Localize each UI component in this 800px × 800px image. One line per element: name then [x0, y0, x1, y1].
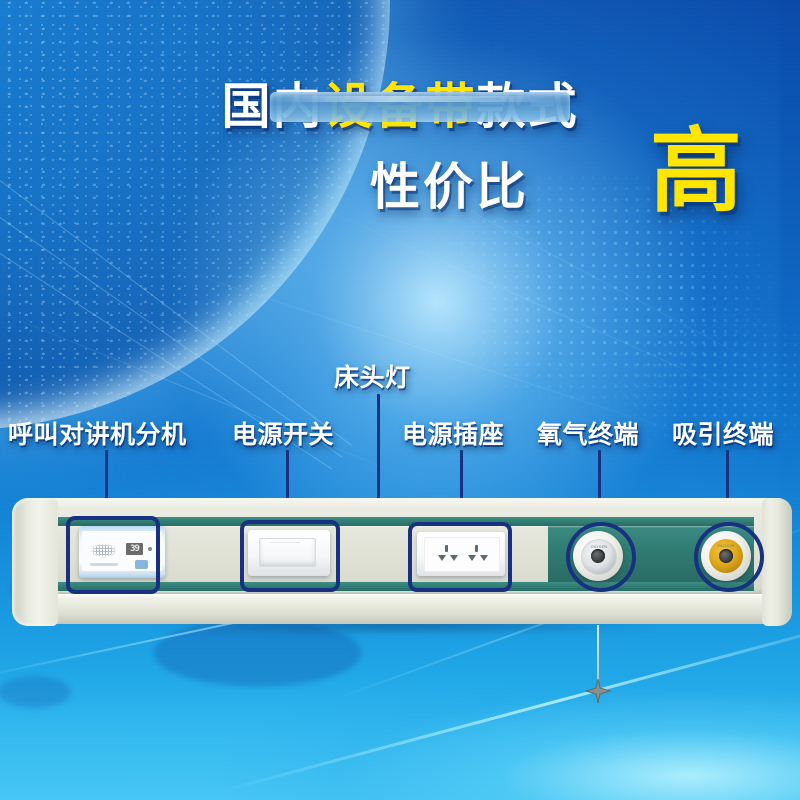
callout-label-intercom: 呼叫对讲机分机	[8, 415, 187, 451]
headline-emphasis-gao: 高	[650, 126, 742, 218]
highlight-circle-suction	[694, 522, 764, 592]
headline-line-2: 性价比	[370, 162, 529, 212]
panel-end-cap-right	[762, 498, 792, 626]
callout-label-power-switch: 电源开关	[232, 415, 334, 451]
highlight-box-power-socket	[408, 522, 512, 592]
highlight-circle-oxygen	[566, 522, 636, 592]
poster-canvas: 国内设备带款式 性价比 高 呼叫对讲机分机 电源开关 床头灯 电源插座 氧气终端…	[0, 0, 800, 800]
panel-end-cap-left	[12, 498, 58, 626]
highlight-box-intercom	[66, 516, 160, 594]
highlight-box-power-switch	[240, 520, 340, 592]
panel-bottom-rail	[18, 594, 788, 624]
callout-label-bed-lamp: 床头灯	[334, 358, 411, 394]
callout-label-power-socket: 电源插座	[402, 415, 504, 451]
pull-cord-weight-icon[interactable]	[585, 678, 611, 704]
bed-lamp-highlight	[280, 96, 560, 102]
panel-top-bevel	[18, 498, 788, 510]
callout-label-suction: 吸引终端	[672, 415, 774, 451]
callout-label-oxygen: 氧气终端	[537, 415, 639, 451]
